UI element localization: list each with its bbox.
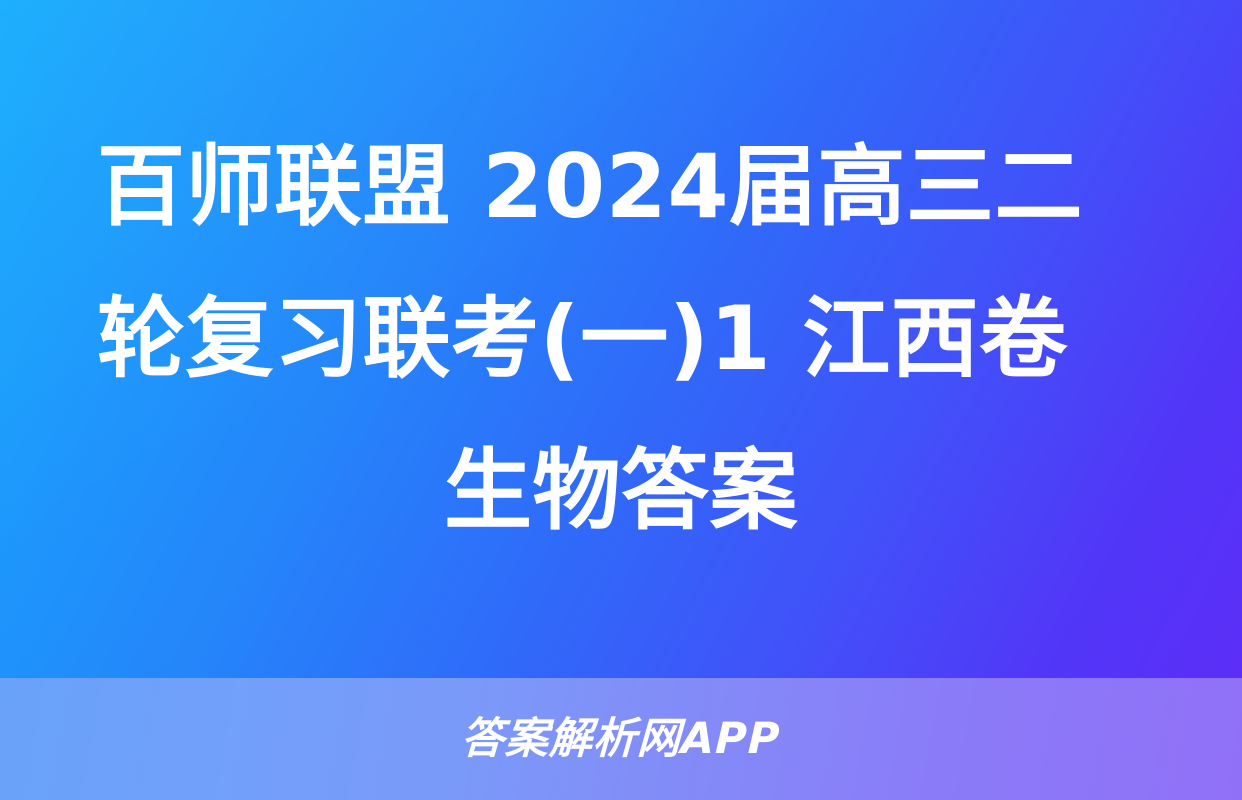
- footer-watermark-band: 答案解析网APP: [0, 678, 1242, 800]
- poster-title: 百师联盟 2024届高三二 轮复习联考(一)1 江西卷 生物答案: [71, 111, 1171, 567]
- title-line-2: 轮复习联考(一)1 江西卷: [83, 263, 1159, 415]
- title-line-1: 百师联盟 2024届高三二: [83, 111, 1159, 263]
- hero-banner: 百师联盟 2024届高三二 轮复习联考(一)1 江西卷 生物答案: [0, 0, 1242, 678]
- poster-container: 百师联盟 2024届高三二 轮复习联考(一)1 江西卷 生物答案 答案解析网AP…: [0, 0, 1242, 800]
- title-line-3: 生物答案: [83, 415, 1159, 567]
- watermark-text: 答案解析网APP: [461, 718, 782, 761]
